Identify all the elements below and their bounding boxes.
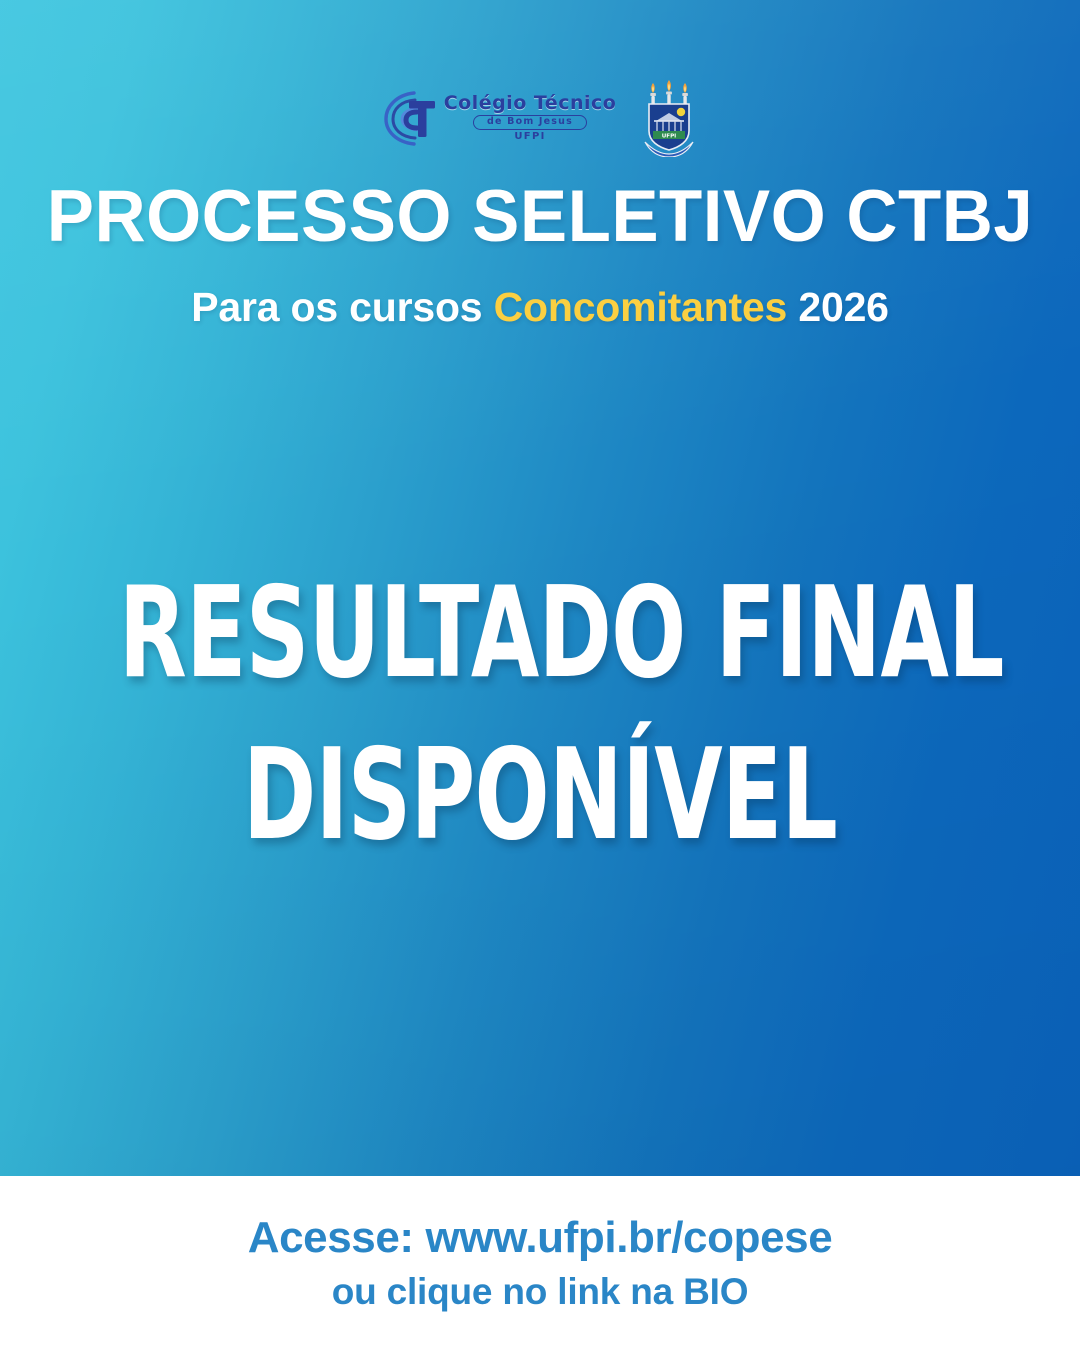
footer-bar: Acesse: www.ufpi.br/copese ou clique no … bbox=[0, 1176, 1080, 1350]
subtitle-highlight: Concomitantes bbox=[494, 284, 788, 330]
poster-root: Colégio Técnico de Bom Jesus UFPI bbox=[0, 0, 1080, 1350]
logo-strip: Colégio Técnico de Bom Jesus UFPI bbox=[0, 76, 1080, 160]
subtitle-prefix: Para os cursos bbox=[191, 284, 493, 330]
announcement-statement: RESULTADO FINAL DISPONÍVEL bbox=[0, 552, 1080, 876]
page-subtitle: Para os cursos Concomitantes 2026 bbox=[0, 283, 1080, 331]
svg-text:UFPI: UFPI bbox=[662, 133, 677, 139]
ct-monogram-icon bbox=[384, 89, 440, 147]
colegio-tecnico-name: Colégio Técnico bbox=[444, 94, 617, 113]
ufpi-crest-icon: UFPI bbox=[642, 79, 696, 157]
colegio-tecnico-institution: UFPI bbox=[514, 132, 545, 142]
colegio-tecnico-wordmark: Colégio Técnico de Bom Jesus UFPI bbox=[444, 94, 617, 143]
colegio-tecnico-city-pill: de Bom Jesus bbox=[473, 115, 587, 131]
page-title: PROCESSO SELETIVO CTBJ bbox=[16, 176, 1064, 258]
colegio-tecnico-logo: Colégio Técnico de Bom Jesus UFPI bbox=[384, 89, 617, 147]
statement-line-1: RESULTADO FINAL bbox=[119, 552, 961, 714]
statement-line-2: DISPONÍVEL bbox=[119, 714, 961, 876]
footer-website-link[interactable]: Acesse: www.ufpi.br/copese bbox=[248, 1212, 833, 1264]
footer-bio-hint[interactable]: ou clique no link na BIO bbox=[332, 1270, 749, 1314]
subtitle-suffix: 2026 bbox=[787, 284, 889, 330]
